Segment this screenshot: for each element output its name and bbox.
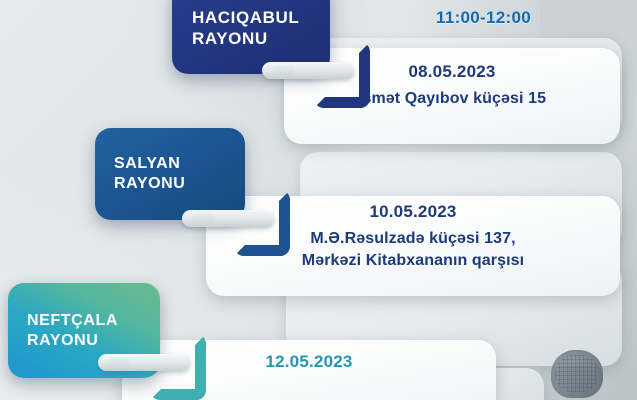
card-2-date: 10.05.2023 xyxy=(206,202,620,222)
poster-canvas: 11:00-12:00 08.05.2023 İsmət Qayıbov küç… xyxy=(0,0,637,400)
session-time-label: 11:00-12:00 xyxy=(436,8,531,28)
schedule-card-1-content: 08.05.2023 İsmət Qayıbov küçəsi 15 xyxy=(284,62,620,109)
schedule-card-2-content: 10.05.2023 M.Ə.Rəsulzadə küçəsi 137, Mər… xyxy=(206,202,620,272)
region-badge-haciqabul-suffix: RAYONU xyxy=(192,28,330,49)
microphone-icon xyxy=(551,350,603,400)
region-badge-salyan-name: SALYAN xyxy=(114,154,245,174)
microphone-grille xyxy=(555,354,599,392)
card-1-date: 08.05.2023 xyxy=(284,62,620,82)
card-2-address-line-1: M.Ə.Rəsulzadə küçəsi 137, xyxy=(206,229,620,249)
card-2-address-line-2: Mərkəzi Kitabxananın qarşısı xyxy=(206,251,620,271)
region-badge-neftcala-name: NEFTÇALA xyxy=(27,311,160,331)
region-badge-haciqabul-name: HACIQABUL xyxy=(192,7,330,28)
microphone-head xyxy=(551,350,603,398)
schedule-card-3-content: 12.05.2023 xyxy=(122,352,496,372)
card-3-date: 12.05.2023 xyxy=(122,352,496,372)
card-1-address-line-1: İsmət Qayıbov küçəsi 15 xyxy=(284,89,620,109)
region-badge-salyan-suffix: RAYONU xyxy=(114,174,245,194)
